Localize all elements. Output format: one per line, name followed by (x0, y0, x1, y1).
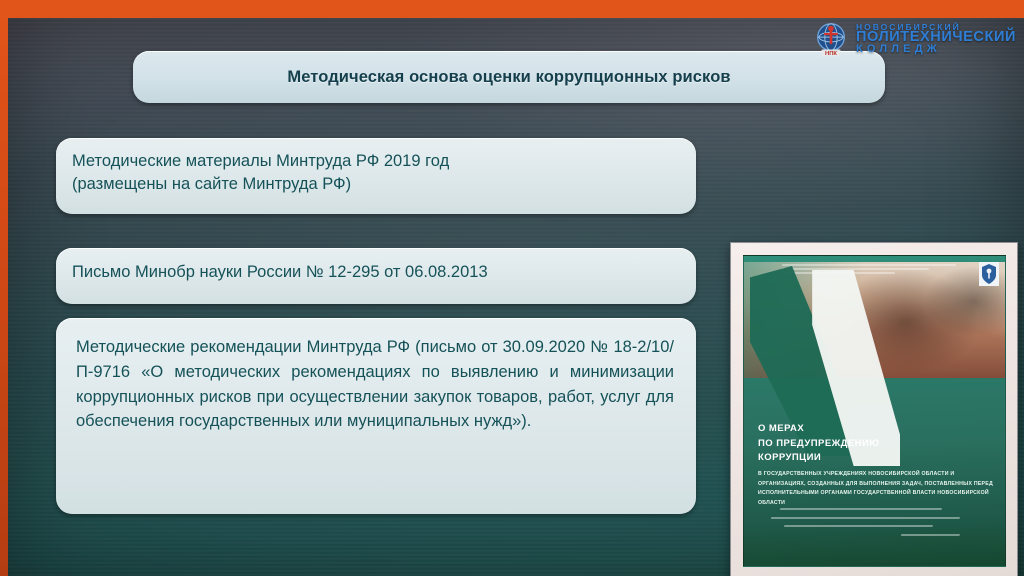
poster-top-caption-lines (782, 264, 971, 286)
poster-subtitle: В ГОСУДАРСТВЕННЫХ УЧРЕЖДЕНИЯХ НОВОСИБИРС… (758, 470, 993, 509)
content-plate-minobr-letter: Письмо Минобр науки России № 12-295 от 0… (56, 248, 696, 304)
plate-1-line1: Методические материалы Минтруда РФ 2019 … (72, 150, 678, 173)
content-plate-recommendations: Методические рекомендации Минтруда РФ (п… (56, 318, 696, 514)
plate-2-line1: Письмо Минобр науки России № 12-295 от 0… (72, 261, 678, 284)
college-branding: НПК НОВОСИБИРСКИЙ ПОЛИТЕХНИЧЕСКИЙ КОЛЛЕД… (812, 20, 1016, 58)
slide-title-plate: Методическая основа оценки коррупционных… (133, 51, 885, 103)
plate-1-body: Методические материалы Минтруда РФ 2019 … (56, 138, 696, 207)
poster-heading-line1: О МЕРАХ (758, 422, 995, 437)
slide-title: Методическая основа оценки коррупционных… (287, 68, 730, 87)
college-globe-emblem-icon: НПК (812, 20, 850, 58)
plate-3-text: Методические рекомендации Минтруда РФ (п… (76, 335, 674, 434)
printed-poster-frame: О МЕРАХ ПО ПРЕДУПРЕЖДЕНИЮ КОРРУПЦИИ В ГО… (730, 242, 1018, 576)
projected-slide-photograph: НПК НОВОСИБИРСКИЙ ПОЛИТЕХНИЧЕСКИЙ КОЛЛЕД… (0, 0, 1024, 576)
projection-screen: НПК НОВОСИБИРСКИЙ ПОЛИТЕХНИЧЕСКИЙ КОЛЛЕД… (8, 18, 1024, 576)
poster-signature-block (766, 508, 991, 554)
college-name-line3: КОЛЛЕДЖ (856, 44, 1016, 55)
plate-3-body: Методические рекомендации Минтруда РФ (п… (56, 318, 696, 448)
poster-heading-line3: КОРРУПЦИИ (758, 451, 995, 466)
coat-of-arms-icon (979, 262, 999, 286)
plate-1-line2: (размещены на сайте Минтруда РФ) (72, 173, 678, 196)
plate-2-body: Письмо Минобр науки России № 12-295 от 0… (56, 248, 696, 294)
college-name-block: НОВОСИБИРСКИЙ ПОЛИТЕХНИЧЕСКИЙ КОЛЛЕДЖ (856, 23, 1016, 56)
content-plate-ministry-materials: Методические материалы Минтруда РФ 2019 … (56, 138, 696, 214)
poster-heading-line2: ПО ПРЕДУПРЕЖДЕНИЮ (758, 437, 995, 452)
svg-text:НПК: НПК (825, 51, 837, 57)
poster-heading: О МЕРАХ ПО ПРЕДУПРЕЖДЕНИЮ КОРРУПЦИИ (758, 422, 995, 466)
anti-corruption-poster: О МЕРАХ ПО ПРЕДУПРЕЖДЕНИЮ КОРРУПЦИИ В ГО… (743, 255, 1006, 567)
